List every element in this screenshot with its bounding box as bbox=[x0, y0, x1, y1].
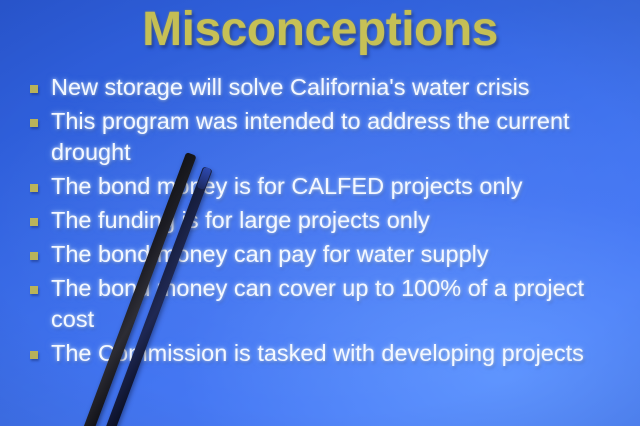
bullet-text: The bond money can pay for water supply bbox=[51, 239, 640, 270]
slide-bullet-list: New storage will solve California's wate… bbox=[0, 72, 640, 372]
bullet-text: This program was intended to address the… bbox=[51, 106, 640, 168]
bullet-square-icon bbox=[30, 252, 38, 260]
list-item: New storage will solve California's wate… bbox=[0, 72, 640, 103]
bullet-text: The funding is for large projects only bbox=[51, 205, 640, 236]
bullet-square-icon bbox=[30, 184, 38, 192]
bullet-square-icon bbox=[30, 85, 38, 93]
bullet-square-icon bbox=[30, 286, 38, 294]
bullet-text: New storage will solve California's wate… bbox=[51, 72, 640, 103]
list-item: The bond money can cover up to 100% of a… bbox=[0, 273, 640, 335]
list-item: The funding is for large projects only bbox=[0, 205, 640, 236]
bullet-square-icon bbox=[30, 218, 38, 226]
list-item: The bond money can pay for water supply bbox=[0, 239, 640, 270]
slide-title: Misconceptions bbox=[0, 2, 640, 57]
list-item: The Commission is tasked with developing… bbox=[0, 338, 640, 369]
bullet-text: The bond money can cover up to 100% of a… bbox=[51, 273, 640, 335]
projected-slide-photo: Misconceptions New storage will solve Ca… bbox=[0, 0, 640, 426]
list-item: This program was intended to address the… bbox=[0, 106, 640, 168]
bullet-text: The Commission is tasked with developing… bbox=[51, 338, 640, 369]
list-item: The bond money is for CALFED projects on… bbox=[0, 171, 640, 202]
bullet-square-icon bbox=[30, 119, 38, 127]
bullet-text: The bond money is for CALFED projects on… bbox=[51, 171, 640, 202]
bullet-square-icon bbox=[30, 351, 38, 359]
